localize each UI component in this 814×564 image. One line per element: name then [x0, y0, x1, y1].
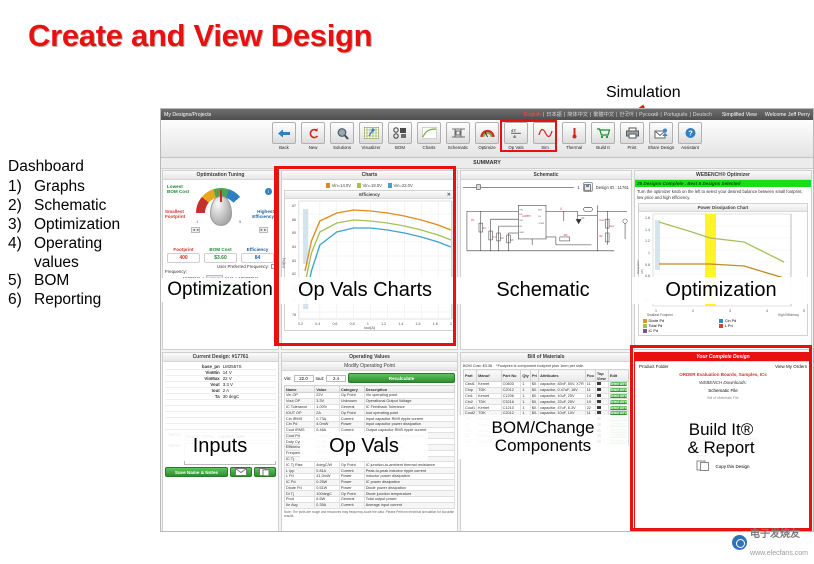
svg-text:SW: SW [519, 220, 522, 222]
metric-value: $3.60 [204, 253, 237, 263]
input-key: VinMin [165, 370, 223, 375]
column-header-value[interactable]: Value [315, 386, 340, 393]
x-tick: 0.8 [350, 322, 355, 326]
y-tick: 1.6 [645, 216, 650, 220]
table-cell: 0.35A [315, 502, 340, 508]
x-tick: 3 [729, 309, 731, 313]
overlay-label-op-vals: Op Vals [300, 432, 428, 461]
panel-title: Bill of Materials [461, 353, 631, 362]
gauge-icon[interactable] [475, 122, 499, 144]
x-tick: 1.4 [398, 322, 403, 326]
chart-legend: Vin=14.0V Vin=18.0V Vin=22.0V [284, 183, 455, 188]
legend-label: Cin Pd [725, 319, 736, 323]
overlay-line-1: Build It® [648, 421, 794, 439]
lang-sep: | [616, 112, 617, 118]
toolbar-button-share-design[interactable]: Share Design [647, 122, 676, 150]
label-smallest-footprint: SmallestFootprint [165, 209, 185, 220]
input-value: 30 degC [223, 394, 240, 399]
toolbar-button-schematic[interactable]: Schematic [444, 122, 473, 150]
svg-text:COMP: COMP [538, 223, 545, 225]
x-tick: 0.4 [315, 322, 320, 326]
inputs-action-bar: Save Name & Notes [165, 467, 276, 477]
line-chart-icon[interactable] [417, 122, 441, 144]
sine-wave-icon[interactable] [533, 122, 557, 144]
toolbar-label: Sim [541, 145, 549, 150]
magnifier-icon[interactable] [330, 122, 354, 144]
y-tick: 85 [292, 231, 296, 235]
legend-item-vin22[interactable]: Vin=22.0V [388, 183, 413, 188]
metric-caption: Efficiency [241, 247, 274, 252]
toolbar-button-solutions[interactable]: Solutions [328, 122, 357, 150]
table-header-row: Part Manuf Part No Qty Pri Attributes Fo… [464, 370, 629, 382]
legend-label: L Pd [725, 324, 733, 328]
input-key: Ta [165, 394, 223, 399]
view-my-orders-link[interactable]: View My Orders [775, 364, 807, 369]
overlay-label-op-vals-charts: Op Vals Charts [277, 277, 453, 304]
toolbar-label: Op Vals [508, 145, 523, 150]
annotation-number: 3) [8, 216, 34, 234]
simulation-callout-label: Simulation [606, 84, 681, 102]
chart-title: Efficiency [359, 192, 380, 197]
summary-label: SUMMARY [473, 160, 501, 166]
overlay-label-inputs: Inputs [163, 432, 277, 461]
annotation-item-optimization: 3) Optimization [8, 216, 160, 234]
legend-item-ic-pd[interactable]: IC Pd [643, 329, 713, 333]
main-toolbar: Back New Solutions Visualizer BOM [161, 120, 813, 158]
annotation-item-operating-values: 4) Operating [8, 235, 160, 253]
save-name-notes-button[interactable]: Save Name & Notes [165, 467, 228, 477]
webench-app-window: My Designs/Projects English| 日本語| 简体中文| … [160, 108, 814, 532]
annotation-item-schematic: 2) Schematic [8, 197, 160, 215]
overlay-label-optimization-2: Optimization [632, 277, 810, 304]
x-tick: 2 [450, 322, 452, 326]
lang-sep: | [689, 112, 690, 118]
copy-page-icon[interactable] [696, 460, 712, 472]
input-key: Vout [165, 382, 223, 387]
knob-handle[interactable] [210, 196, 232, 226]
legend-swatch [643, 329, 647, 333]
app-header-bar: My Designs/Projects English| 日本語| 简体中文| … [161, 109, 813, 120]
legend-item-total-pd[interactable]: Total Pd [643, 324, 713, 328]
save-icon[interactable] [583, 182, 593, 192]
bom-summary-row: BOM Cost: $3.36 *Footprint is component … [463, 364, 629, 368]
toolbar-button-new[interactable]: New [299, 122, 328, 150]
svg-text:R1: R1 [483, 227, 487, 230]
toolbar-label: Share Design [648, 145, 675, 150]
toolbar-label: Thermal [566, 145, 582, 150]
x-tick: 1.2 [381, 322, 386, 326]
metric-bom-cost: BOM Cost $3.60 [204, 247, 237, 263]
metric-value: 400 [167, 253, 200, 263]
welcome-user-label: Welcome Jeff Perry [765, 112, 810, 118]
overlay-line-1: BOM/Change [458, 419, 628, 437]
vin-input[interactable]: 22.0 [294, 375, 314, 382]
power-dissipation-chart: Power Dissipation Chart 1.6 1.4 1.2 1 0.… [638, 203, 808, 336]
lang-russian[interactable]: Русский [639, 112, 658, 118]
svg-text:Cff: Cff [510, 239, 513, 242]
toolbar-label: BOM [395, 145, 405, 150]
svg-text:dt: dt [513, 134, 517, 139]
table-cell: Average input current [364, 502, 454, 508]
column-header-category[interactable]: Category [339, 386, 364, 393]
toolbar-button-visualizer[interactable]: Visualizer [357, 122, 386, 150]
column-header-manuf[interactable]: Manuf [477, 370, 502, 382]
cart-icon[interactable] [591, 122, 615, 144]
user-preferred-frequency-label: User Preferred Frequency: [217, 264, 269, 269]
annotation-item-graphs: 1) Graphs [8, 178, 160, 196]
close-icon[interactable]: ✕ [447, 192, 451, 198]
annotation-label: Reporting [34, 291, 101, 309]
panel-charts: Charts Vin=14.0V Vin=18.0V V [281, 170, 458, 350]
annotation-number: 2) [8, 197, 34, 215]
optimizer-knob-area[interactable]: LowestBOM Cost SmallestFootprint Highest… [165, 182, 276, 246]
input-key: Iout [165, 388, 223, 393]
svg-text:FB: FB [519, 226, 522, 228]
legend-label: Total Pd [649, 324, 663, 328]
svg-text:Vout: Vout [609, 225, 614, 228]
annotation-number: 4) [8, 235, 34, 253]
label-lowest-bom-cost: LowestBOM Cost [167, 184, 189, 195]
lang-sep: | [660, 112, 661, 118]
column-header-foo[interactable]: Foo [585, 370, 595, 382]
annotation-list: Dashboard 1) Graphs 2) Schematic 3) Opti… [8, 158, 160, 310]
legend-swatch [326, 183, 330, 188]
grid-chart-icon[interactable] [359, 122, 383, 144]
dashboard-column-2: Charts Vin=14.0V Vin=18.0V V [280, 169, 459, 532]
lang-simplified-chinese[interactable]: 简体中文 [567, 111, 588, 118]
svg-text:EN: EN [519, 214, 522, 216]
metric-caption: BOM Cost [204, 247, 237, 252]
table-row[interactable]: IIn Avg0.35ACurrentAverage input current [285, 502, 455, 508]
svg-text:R2: R2 [599, 235, 603, 238]
metric-efficiency: Efficiency 84 [241, 247, 274, 263]
summary-bar: SUMMARY [161, 158, 813, 169]
thermometer-icon[interactable] [562, 122, 586, 144]
toolbar-button-assistant[interactable]: ? Assistant [676, 122, 705, 150]
overlay-label-schematic: Schematic [457, 277, 629, 304]
annotation-item-reporting: 6) Reporting [8, 291, 160, 309]
y-tick: 84 [292, 245, 296, 249]
svg-text:SS: SS [538, 216, 541, 218]
annotation-item-bom: 5) BOM [8, 272, 160, 290]
legend-label: IC Pd [649, 329, 659, 333]
op-vals-footnote: Note: The plots are rough and resources … [284, 510, 455, 518]
column-header-name[interactable]: Name [285, 386, 315, 393]
panel-subtitle: Modify Operating Point [282, 362, 457, 371]
power-chart-legend: Diode Pd Cin Pd Total Pd L Pd [639, 317, 807, 335]
legend-item-vin14[interactable]: Vin=14.0V [326, 183, 351, 188]
lang-english[interactable]: English [524, 112, 541, 118]
lang-sep: | [543, 112, 544, 118]
legend-item-vin18[interactable]: Vin=18.0V [357, 183, 382, 188]
x-axis-label-left: Smallest Footprint [647, 313, 673, 317]
lang-japanese[interactable]: 日本語 [546, 111, 562, 118]
optimizer-status-banner: 25 Designs Complete . Best 5 Designs Sel… [635, 180, 811, 187]
bom-cost-label: BOM Cost: $3.36 [463, 364, 492, 368]
panel-optimization-tuning: Optimization Tuning LowestBOM Cost Small… [162, 170, 279, 350]
toolbar-label: Assistant [681, 145, 699, 150]
input-key: base_pn [165, 364, 223, 369]
toolbar-label: New [309, 145, 318, 150]
watermark-line-2: www.elecfans.com [750, 550, 808, 557]
printer-icon[interactable] [620, 122, 644, 144]
recalculate-button[interactable]: Recalculate [348, 373, 455, 383]
schematic-icon[interactable] [446, 122, 470, 144]
column-header-edit[interactable]: Edit [608, 370, 628, 382]
panel-title: Operating Values [282, 353, 457, 362]
watermark: 电子发烧友 www.elecfans.com [732, 524, 808, 560]
toolbar-label: Charts [423, 145, 436, 150]
annotation-label: BOM [34, 272, 69, 290]
chart-title: Power Dissipation Chart [698, 205, 749, 210]
x-tick: 1.8 [433, 322, 438, 326]
input-value: 22 V [223, 376, 232, 381]
toolbar-label: Back [279, 145, 289, 150]
overlay-label-optimization: Optimization [161, 278, 279, 302]
build-links-row: Product Folder View My Orders [635, 362, 811, 369]
annotation-label-continued: values [34, 254, 160, 272]
panel-title: Your Complete Design [635, 353, 811, 362]
svg-text:L1: L1 [560, 207, 563, 210]
svg-text:Rfb: Rfb [564, 234, 568, 237]
column-header-pri[interactable]: Pri [530, 370, 538, 382]
x-tick: 5 [803, 309, 805, 313]
knob-increase-button[interactable]: ►► [259, 227, 268, 233]
op-point-controls: Vin: 22.0 Iout: 2.4 Recalculate [284, 373, 455, 383]
info-icon[interactable]: i [265, 188, 272, 195]
panel-title: Schematic [461, 171, 631, 180]
legend-swatch [719, 319, 723, 323]
x-tick: 2 [692, 309, 694, 313]
dashboard-column-4: WEBENCH® Optimizer 25 Designs Complete .… [633, 169, 813, 532]
toolbar-button-build-it[interactable]: Build It [589, 122, 618, 150]
input-value: LM2557S [223, 364, 242, 369]
input-value: 2 A [223, 388, 229, 393]
lang-sep: | [564, 112, 565, 118]
legend-swatch [643, 319, 647, 323]
column-header-qty[interactable]: Qty [521, 370, 531, 382]
toolbar-button-op-vals[interactable]: dVdt Op Vals [502, 122, 531, 150]
dashboard-column-1: Optimization Tuning LowestBOM Cost Small… [161, 169, 280, 532]
svg-text:VIN: VIN [519, 209, 523, 211]
schematic-zoom-slider[interactable] [463, 184, 574, 190]
x-tick: 0.2 [298, 322, 303, 326]
refresh-icon[interactable] [301, 122, 325, 144]
schematic-diagram[interactable]: VinR1C1 C2CffLM2557 L1D1Cout R2VoutRfb V… [461, 193, 631, 275]
lang-portuguese[interactable]: Português [664, 112, 688, 118]
metric-footprint: Footprint 400 [167, 247, 200, 263]
overlay-line-2: Components [458, 437, 628, 455]
svg-text:Vin: Vin [471, 219, 475, 222]
help-question-icon[interactable]: ? [678, 122, 702, 144]
toolbar-button-charts[interactable]: Charts [415, 122, 444, 150]
column-header-part[interactable]: Part [464, 370, 477, 382]
y-tick: 1 [648, 251, 650, 255]
panel-webench-optimizer: WEBENCH® Optimizer 25 Designs Complete .… [634, 170, 812, 350]
column-header-part-no[interactable]: Part No [501, 370, 521, 382]
lang-german[interactable]: Deutsch [693, 112, 712, 118]
knob-decrease-button[interactable]: ◄◄ [191, 227, 200, 233]
svg-text:Cout: Cout [599, 219, 604, 222]
legend-swatch [388, 183, 392, 188]
input-value: 14 V [223, 370, 232, 375]
y-tick: 1.2 [645, 239, 650, 243]
x-tick: 4 [766, 309, 768, 313]
toolbar-button-bom[interactable]: BOM [386, 122, 415, 150]
toolbar-label: Print [627, 145, 636, 150]
slider-thumb[interactable] [476, 184, 481, 190]
back-arrow-icon[interactable] [272, 122, 296, 144]
svg-text:dV: dV [511, 128, 517, 133]
watermark-line-1: 电子发烧友 [750, 529, 800, 540]
slider-value: 1 [577, 185, 579, 190]
svg-text:D1: D1 [582, 217, 586, 220]
legend-item-diode-pd[interactable]: Diode Pd [643, 319, 713, 323]
metrics-row: Footprint 400 BOM Cost $3.60 Efficiency … [165, 247, 276, 263]
dashboard-column-3: Schematic 1 Design ID : 11761 [459, 169, 633, 532]
annotation-label: Operating [34, 235, 102, 253]
panel-schematic: Schematic 1 Design ID : 11761 [460, 170, 632, 350]
input-row-blank [165, 424, 276, 430]
column-header-attributes[interactable]: Attributes [539, 370, 586, 382]
envelope-icon[interactable] [230, 467, 252, 477]
lang-sep: | [636, 112, 637, 118]
schematic-file-link[interactable]: Schematic File [635, 385, 811, 393]
input-value: 3.3 V [223, 382, 233, 387]
legend-item-cin-pd[interactable]: Cin Pd [719, 319, 789, 323]
overlay-line-2: & Report [648, 439, 794, 457]
annotation-number: 5) [8, 272, 34, 290]
y-tick: 87 [292, 204, 296, 208]
lang-traditional-chinese[interactable]: 繁體中文 [593, 111, 614, 118]
table-cell: Current [339, 502, 364, 508]
svg-text:C2: C2 [501, 237, 505, 240]
panel-title: Current Design: #17761 [163, 353, 278, 362]
efficiency-chart: Efficiency ✕ 87 86 85 84 83 82 81 [284, 190, 455, 331]
annotation-number: 6) [8, 291, 34, 309]
legend-label: Vin=18.0V [363, 183, 382, 188]
legend-label: Diode Pd [649, 319, 665, 323]
x-tick: 0.6 [332, 322, 337, 326]
copy-icon[interactable] [254, 467, 276, 477]
legend-swatch [357, 183, 361, 188]
user-preferred-frequency-checkbox[interactable] [271, 264, 276, 269]
product-folder-link[interactable]: Product Folder [639, 364, 669, 369]
legend-label: Vin=14.0V [332, 183, 351, 188]
toolbar-button-thermal[interactable]: Thermal [560, 122, 589, 150]
y-tick: 82 [292, 272, 296, 276]
overlay-label-build-it-report: Build It® & Report [648, 418, 794, 460]
toolbar-label: Visualizer [362, 145, 381, 150]
chart-y-axis-label: Eff[%] [282, 258, 286, 268]
order-eval-boards-link[interactable]: ORDER Evaluation Boards, Samples, ICs [635, 369, 811, 377]
language-selector[interactable]: English| 日本語| 简体中文| 繁體中文| 한국어| Русский| … [524, 111, 712, 118]
toolbar-button-back[interactable]: Back [270, 122, 299, 150]
y-tick: 86 [292, 218, 296, 222]
vin-label: Vin: [284, 376, 292, 381]
column-header-description[interactable]: Description [364, 386, 454, 393]
y-tick: 0.8 [645, 263, 650, 267]
bom-footprint-note: *Footprint is component footprint plus 1… [496, 364, 584, 368]
svg-text:?: ? [688, 129, 693, 138]
gauge-tick-left: 1 [196, 219, 198, 224]
toolbar-button-sim[interactable]: Sim [531, 122, 560, 150]
dv-dt-icon[interactable]: dVdt [504, 122, 528, 144]
input-key: VinMax [165, 376, 223, 381]
toolbar-label: Solutions [333, 145, 351, 150]
svg-text:C1: C1 [493, 236, 497, 239]
annotation-label: Optimization [34, 216, 120, 234]
x-tick: 1.6 [416, 322, 421, 326]
metric-value: 84 [241, 253, 274, 263]
gauge-tick-right: 5 [239, 219, 241, 224]
table-cell: IIn Avg [285, 502, 315, 508]
webench-downloads-label: WEBENCH Downloads: [635, 377, 811, 385]
frequency-label: Frequency: [165, 269, 276, 274]
bom-file-link[interactable]: Bill of Materials File [635, 393, 811, 400]
toolbar-label: Schematic [448, 145, 469, 150]
legend-label: Vin=22.0V [393, 183, 412, 188]
chart-header: Power Dissipation Chart [639, 204, 807, 212]
annotation-label: Graphs [34, 178, 85, 196]
y-tick: 83 [292, 259, 296, 263]
chart-header: Efficiency ✕ [285, 191, 454, 199]
annotation-number: 1) [8, 178, 34, 196]
toolbar-button-optimize[interactable]: Optimize [473, 122, 502, 150]
legend-item-l-pd[interactable]: L Pd [719, 324, 789, 328]
annotation-label: Schematic [34, 197, 106, 215]
y-tick: 1.4 [645, 228, 650, 232]
toolbar-button-print[interactable]: Print [618, 122, 647, 150]
overlay-label-bom-change-components: BOM/Change Components [458, 415, 628, 459]
column-header-top-view[interactable]: Top View [595, 370, 608, 382]
metric-caption: Footprint [167, 247, 200, 252]
lang-sep: | [590, 112, 591, 118]
panel-title: WEBENCH® Optimizer [635, 171, 811, 180]
optimizer-description: Turn the optimizer knob on the left to s… [635, 187, 811, 202]
annotation-heading: Dashboard [8, 158, 160, 176]
panel-title: Charts [282, 171, 457, 180]
toolbar-label: Build It [596, 145, 609, 150]
copy-this-design-label[interactable]: Copy this Design [715, 464, 749, 469]
x-axis-label-right: High Efficiency [778, 313, 799, 317]
iout-input[interactable]: 2.4 [326, 375, 346, 382]
svg-text:GND: GND [519, 232, 524, 234]
svg-text:BST: BST [538, 209, 543, 211]
design-id-label: Design ID : 11761 [596, 185, 629, 190]
table-header-row: Name Value Category Description [285, 386, 455, 393]
dashboard-grid: Optimization Tuning LowestBOM Cost Small… [161, 169, 813, 532]
components-icon[interactable] [388, 122, 412, 144]
simplified-view-link[interactable]: Simplified View [722, 112, 757, 118]
svg-text:LM2557: LM2557 [522, 215, 531, 218]
chart-y-axis-label: Power Dissipation (W) [634, 260, 644, 274]
elecfans-logo-icon [732, 535, 747, 550]
chart-x-axis-label: Iout[A] [285, 326, 454, 330]
toolbar-label: Optimize [478, 145, 495, 150]
label-highest-efficiency: HighestEfficiency [252, 209, 274, 220]
page-title: Create and View Design [28, 18, 372, 54]
breadcrumb[interactable]: My Designs/Projects [164, 112, 211, 118]
share-envelope-icon[interactable] [649, 122, 673, 144]
schematic-toolbar: 1 Design ID : 11761 [461, 180, 631, 193]
legend-swatch [719, 324, 723, 328]
lang-korean[interactable]: 한국어 [619, 111, 633, 118]
y-tick: 78 [292, 313, 296, 317]
legend-swatch [643, 324, 647, 328]
panel-title: Optimization Tuning [163, 171, 278, 180]
iout-label: Iout: [316, 376, 325, 381]
